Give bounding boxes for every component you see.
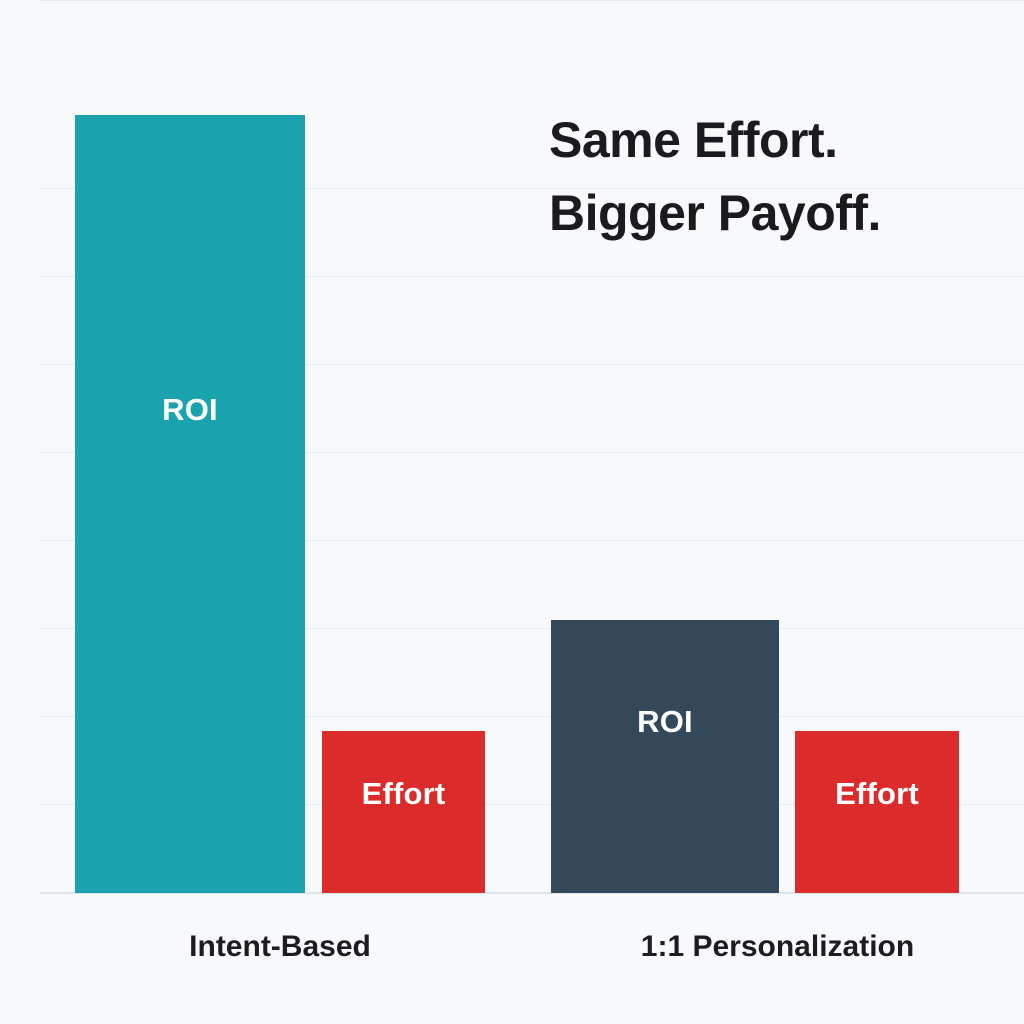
chart-headline: Same Effort. Bigger Payoff.: [549, 104, 1009, 249]
bar-intent-based-roi[interactable]: ROI: [75, 115, 305, 893]
x-axis-label-personalization: 1:1 Personalization: [575, 930, 980, 964]
bar-intent-based-effort[interactable]: Effort: [322, 731, 485, 893]
headline-line-2: Bigger Payoff.: [549, 177, 1009, 250]
bar-value-label: ROI: [162, 394, 218, 425]
headline-line-1: Same Effort.: [549, 104, 1009, 177]
bar-personalization-effort[interactable]: Effort: [795, 731, 959, 893]
bar-value-label: ROI: [637, 706, 693, 737]
bar-personalization-roi[interactable]: ROI: [551, 620, 779, 893]
x-axis-label-intent-based: Intent-Based: [100, 930, 460, 964]
bar-value-label: Effort: [362, 778, 446, 809]
bar-chart: ROI Effort ROI Effort Intent-Based 1:1 P…: [0, 0, 1024, 1024]
bar-value-label: Effort: [835, 778, 919, 809]
